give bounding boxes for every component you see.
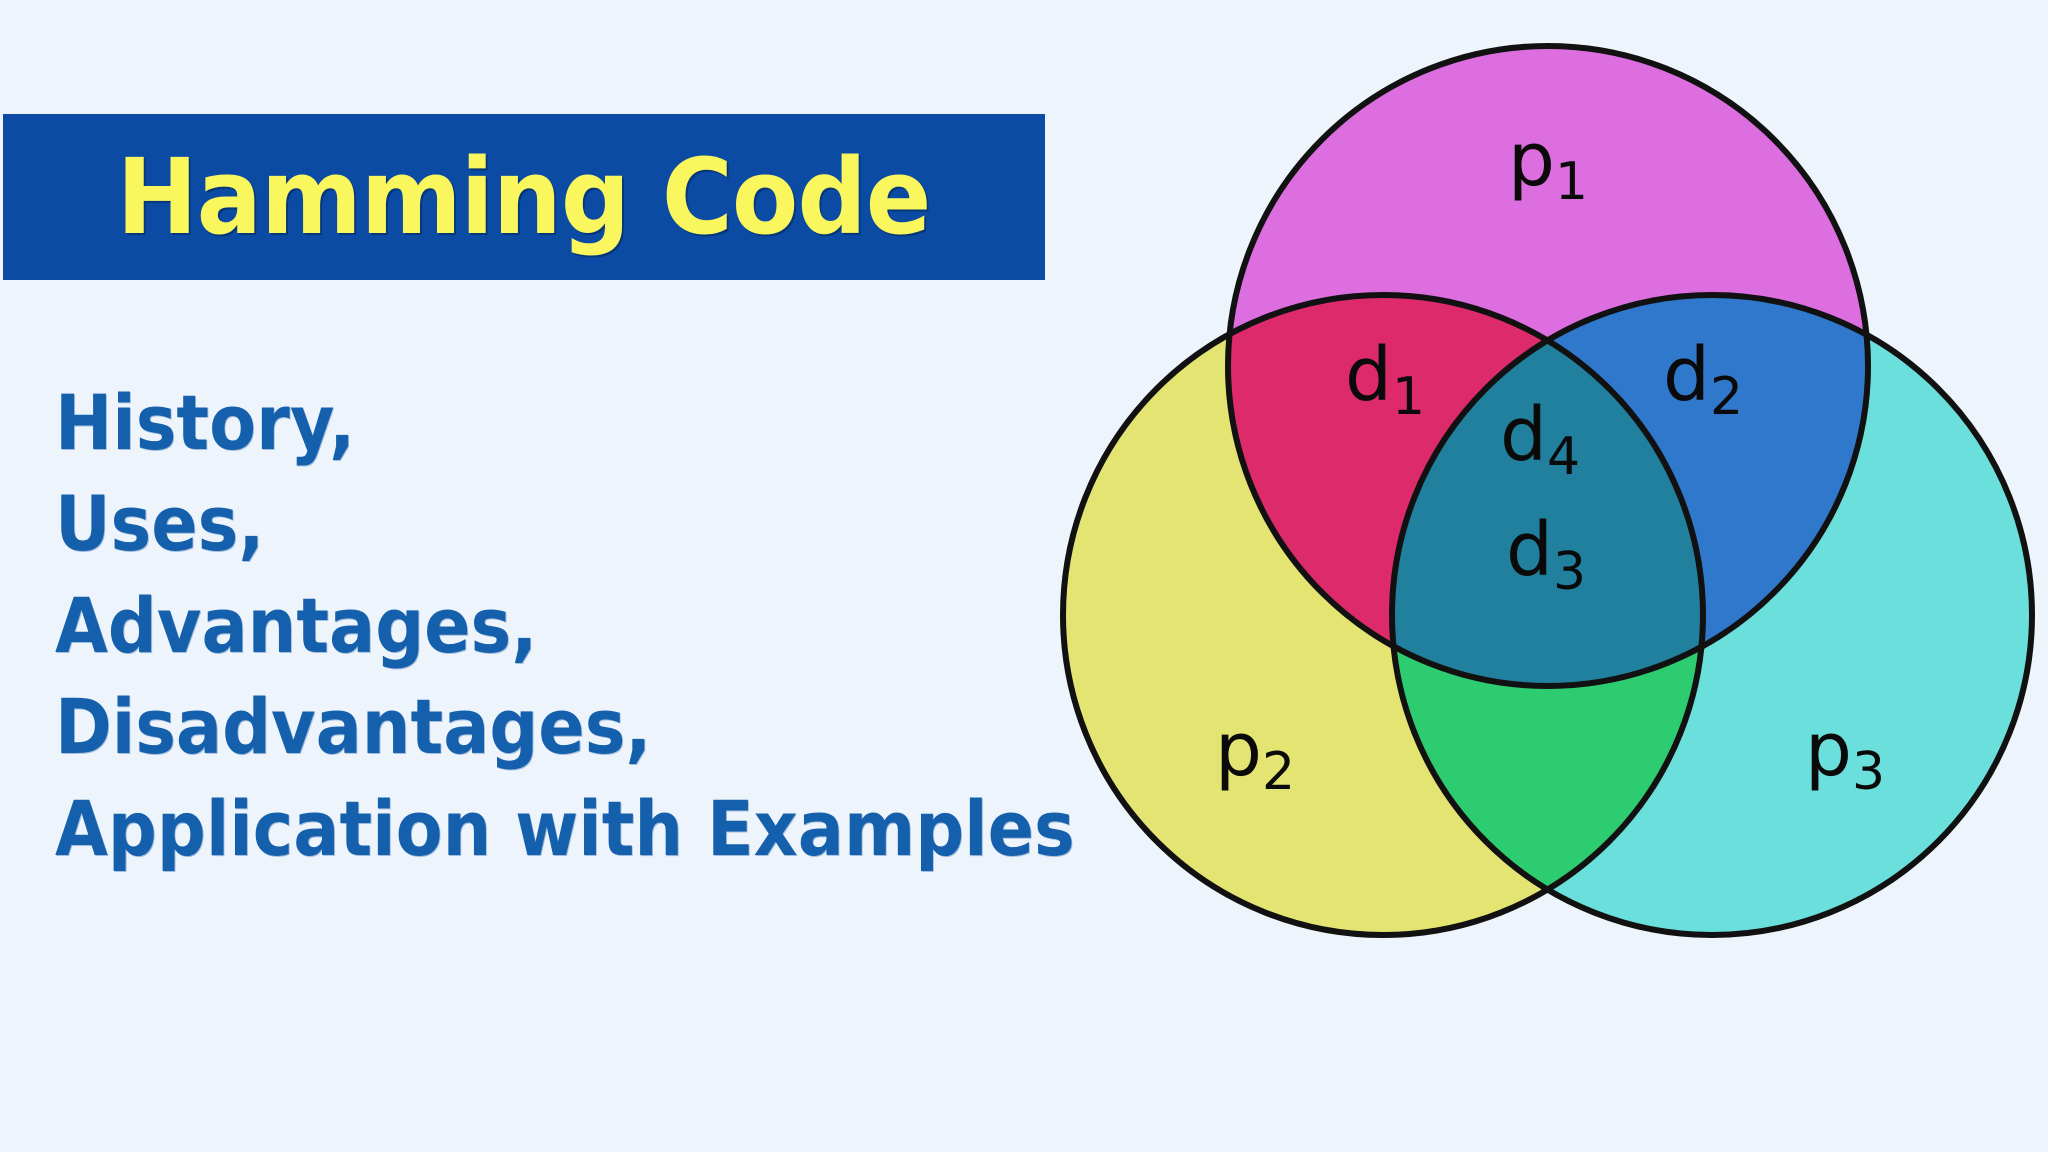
venn-label-p1-sub: 1: [1555, 152, 1588, 212]
venn-label-p2-base: p: [1215, 707, 1262, 793]
venn-label-p1-base: p: [1508, 117, 1555, 203]
venn-diagram-svg: p1 p2 p3 d1 d2 d3 d4: [1040, 0, 2048, 1000]
page-title: Hamming Code: [117, 145, 931, 249]
venn-label-d1-sub: 1: [1392, 367, 1425, 427]
poster-canvas: Hamming Code History, Uses, Advantages, …: [0, 0, 2048, 1152]
venn-label-d4-base: d: [1500, 392, 1547, 478]
venn-label-d2-base: d: [1663, 332, 1710, 418]
left-content-column: Hamming Code History, Uses, Advantages, …: [0, 0, 1060, 1152]
venn-label-p3-sub: 3: [1852, 742, 1885, 802]
venn-label-d4-sub: 4: [1547, 427, 1580, 487]
venn-label-d3-base: d: [1506, 507, 1553, 593]
venn-label-p2-sub: 2: [1262, 742, 1295, 802]
venn-label-d1-base: d: [1345, 332, 1392, 418]
venn-diagram: p1 p2 p3 d1 d2 d3 d4: [1040, 0, 2048, 1000]
venn-label-p3-base: p: [1805, 707, 1852, 793]
venn-label-d2-sub: 2: [1710, 367, 1743, 427]
venn-label-d3-sub: 3: [1553, 542, 1586, 602]
title-banner: Hamming Code: [3, 114, 1045, 280]
